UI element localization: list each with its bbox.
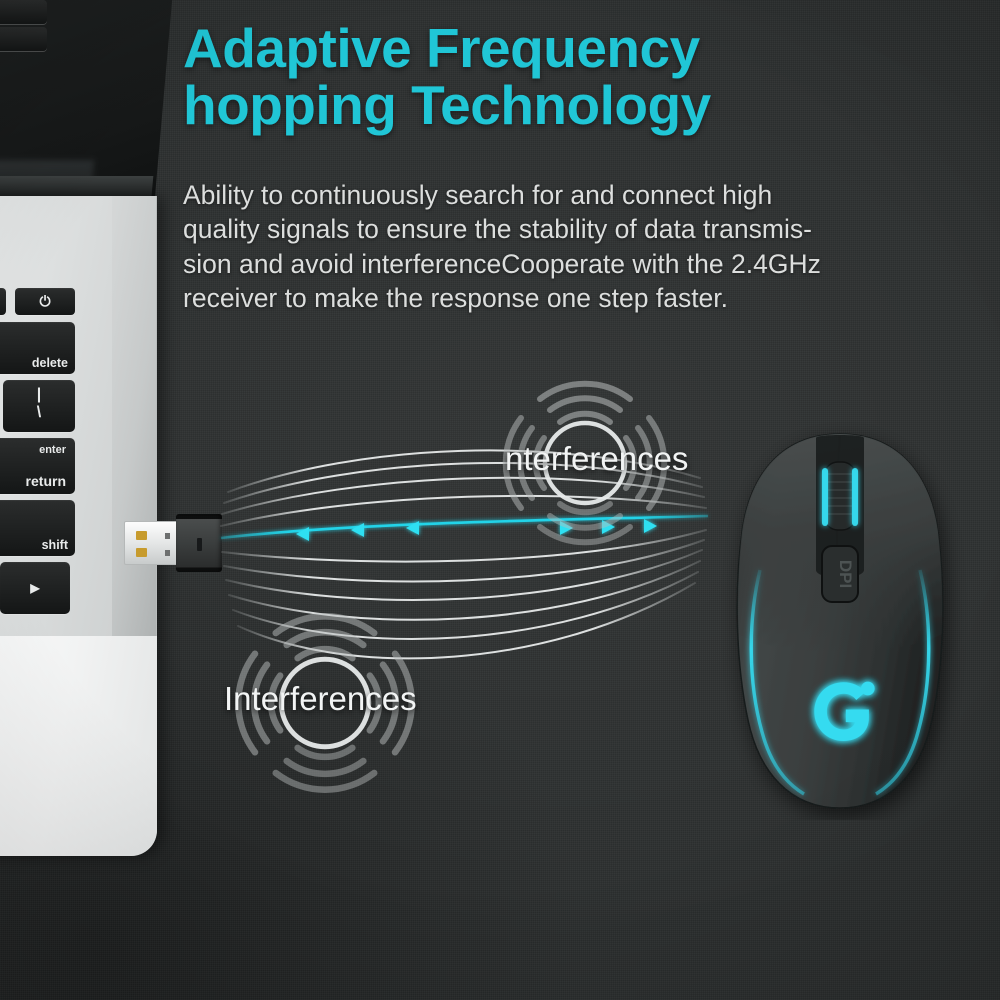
usb-contact-pin bbox=[165, 550, 170, 556]
dpi-button[interactable]: DPI bbox=[822, 546, 858, 602]
key-arrow-down[interactable] bbox=[0, 27, 47, 51]
key-backslash[interactable]: | \ bbox=[3, 380, 75, 432]
page-title: Adaptive Frequency hopping Technology bbox=[183, 20, 983, 133]
interference-label-top: nterferences bbox=[505, 440, 688, 478]
signal-arrows-left bbox=[296, 521, 419, 541]
description-line-3: sion and avoid interferenceCooperate wit… bbox=[183, 247, 973, 281]
key-backslash-label: \ bbox=[3, 404, 75, 422]
usb-contact-pin bbox=[165, 533, 170, 539]
interference-label-bottom: Interferences bbox=[224, 680, 417, 718]
key-f12[interactable]: 🔊 F12 bbox=[0, 288, 6, 315]
key-shift[interactable]: shift bbox=[0, 500, 75, 556]
key-enter-label: enter bbox=[39, 444, 66, 456]
key-delete-label: delete bbox=[32, 356, 68, 370]
play-arrow-icon: ▶ bbox=[0, 581, 70, 595]
usb-plastic-body bbox=[176, 514, 222, 572]
product-banner: 🔊 F12 ⏻ delete } ] | \ enter return shif… bbox=[0, 0, 1000, 1000]
key-arrow-up[interactable] bbox=[0, 0, 47, 24]
laptop-palmrest bbox=[0, 636, 157, 856]
scroll-wheel[interactable] bbox=[822, 462, 858, 530]
power-icon: ⏻ bbox=[15, 293, 75, 309]
usb-nano-receiver[interactable] bbox=[124, 512, 222, 574]
wireless-gaming-mouse[interactable]: DPI bbox=[700, 420, 980, 820]
key-return[interactable]: enter return bbox=[0, 438, 75, 494]
key-pipe-label: | bbox=[3, 386, 75, 404]
laptop: 🔊 F12 ⏻ delete } ] | \ enter return shif… bbox=[0, 0, 192, 1000]
dpi-button-label: DPI bbox=[836, 560, 855, 588]
usb-contact-pin bbox=[136, 548, 147, 557]
description-line-1: Ability to continuously search for and c… bbox=[183, 178, 973, 212]
description-line-4: receiver to make the response one step f… bbox=[183, 281, 973, 315]
key-return-label: return bbox=[26, 473, 66, 489]
description-line-2: quality signals to ensure the stability … bbox=[183, 212, 973, 246]
usb-connector-shell bbox=[124, 521, 180, 565]
key-delete[interactable]: delete bbox=[0, 322, 75, 374]
key-power[interactable]: ⏻ bbox=[15, 288, 75, 315]
key-shift-label: shift bbox=[42, 538, 68, 552]
usb-body-slot bbox=[197, 538, 202, 551]
interference-marker-bottom: Interferences bbox=[232, 610, 418, 796]
headline-line-1: Adaptive Frequency bbox=[183, 17, 700, 79]
headline-line-2: hopping Technology bbox=[183, 77, 983, 134]
usb-contact-pin bbox=[136, 531, 147, 540]
description-text: Ability to continuously search for and c… bbox=[183, 178, 973, 316]
key-arrow-right[interactable]: ▶ bbox=[0, 562, 70, 614]
mouse-illustration: DPI bbox=[700, 420, 980, 820]
interference-marker-top: nterferences bbox=[500, 378, 670, 548]
